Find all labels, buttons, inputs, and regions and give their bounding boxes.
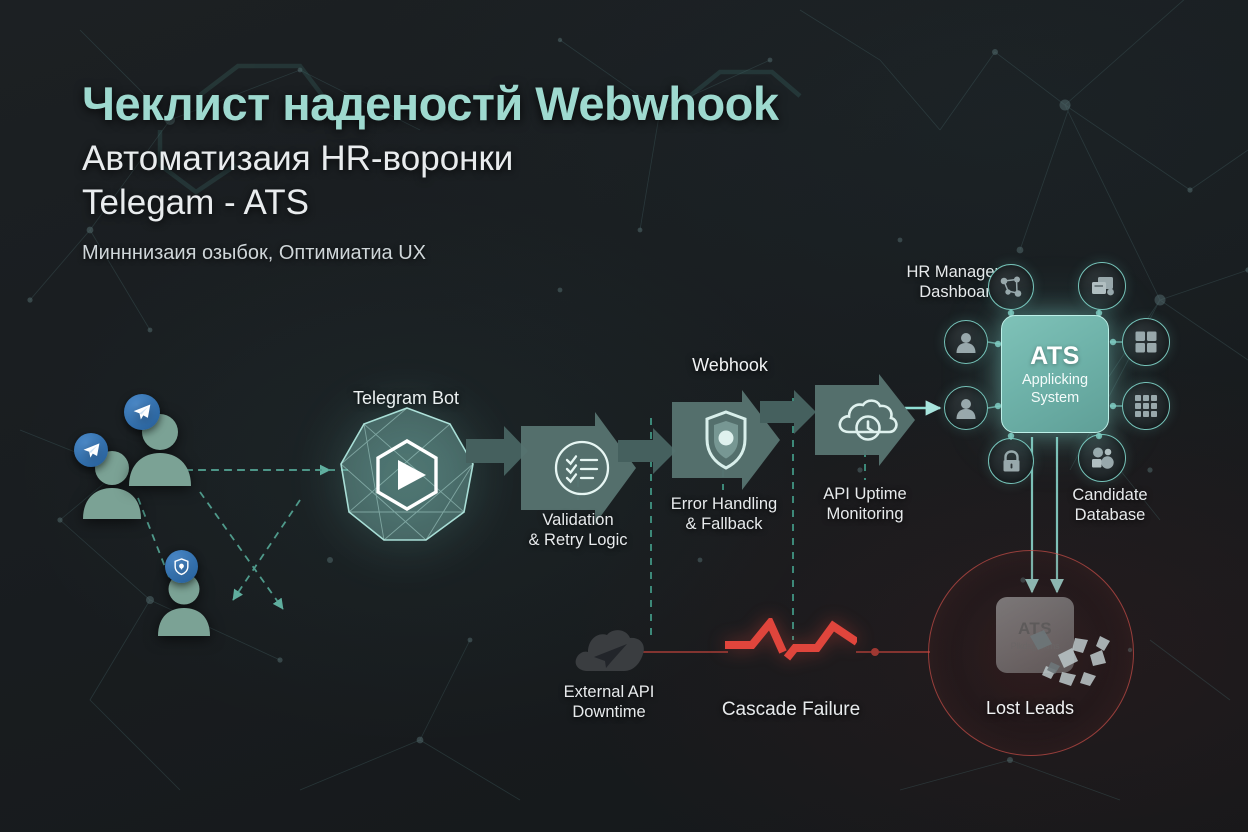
lost-leads-label: Lost Leads: [955, 698, 1105, 720]
infographic-canvas: Чеклист наденостй Webwhook Автоматизаия …: [0, 0, 1248, 832]
